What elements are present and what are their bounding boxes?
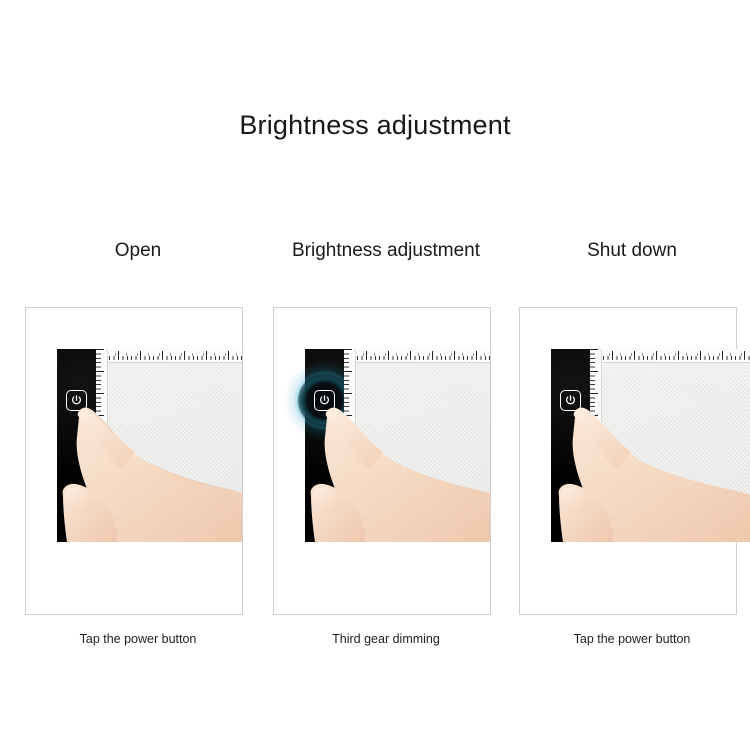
step-heading: Open	[8, 240, 268, 262]
step-caption: Tap the power button	[8, 632, 268, 646]
device-bezel	[57, 349, 96, 542]
vertical-ruler	[344, 349, 356, 542]
horizontal-ruler	[344, 349, 491, 363]
drawing-panel	[344, 349, 491, 542]
step-image-card	[25, 307, 243, 615]
step-image-card	[273, 307, 491, 615]
step-caption: Third gear dimming	[256, 632, 516, 646]
step-shut-down: Shut down	[512, 240, 750, 670]
drawing-panel	[590, 349, 750, 542]
step-image-card	[519, 307, 737, 615]
power-icon[interactable]	[314, 390, 335, 411]
step-caption: Tap the power button	[502, 632, 750, 646]
light-pad-device	[57, 349, 243, 542]
device-bezel	[551, 349, 590, 542]
power-icon[interactable]	[560, 390, 581, 411]
step-heading: Brightness adjustment	[256, 240, 516, 262]
step-brightness-adjustment: Brightness adjustment	[266, 240, 506, 670]
device-bezel	[305, 349, 344, 542]
power-icon[interactable]	[66, 390, 87, 411]
steps-row: Open	[0, 240, 750, 670]
vertical-ruler	[590, 349, 602, 542]
horizontal-ruler	[96, 349, 243, 363]
horizontal-ruler	[590, 349, 750, 363]
page-title: Brightness adjustment	[0, 110, 750, 141]
light-pad-device	[551, 349, 750, 542]
light-pad-device	[305, 349, 491, 542]
drawing-panel	[96, 349, 243, 542]
step-open: Open	[18, 240, 258, 670]
step-heading: Shut down	[502, 240, 750, 262]
vertical-ruler	[96, 349, 108, 542]
